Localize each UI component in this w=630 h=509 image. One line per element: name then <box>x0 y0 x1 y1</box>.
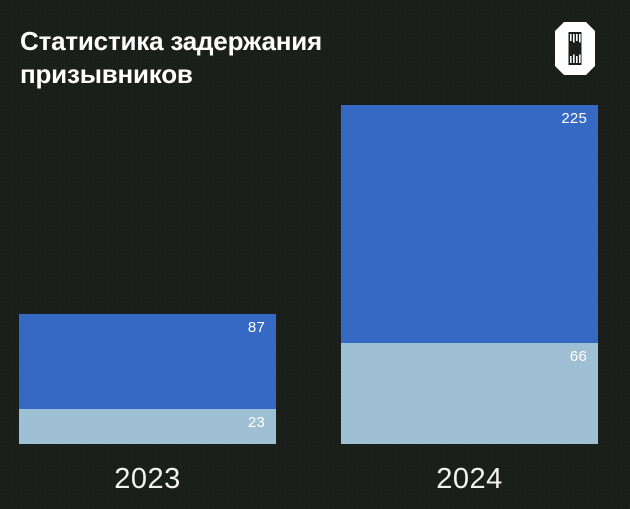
bar-segment-2023-lower[interactable]: 23 <box>19 409 276 444</box>
bar-group-2023: 87 23 2023 <box>19 0 276 509</box>
bar-group-2024: 225 66 2024 <box>341 0 598 509</box>
bar-segment-2023-upper[interactable]: 87 <box>19 314 276 409</box>
stacked-bar-2023: 87 23 <box>19 314 276 444</box>
axis-label-2024: 2024 <box>341 465 598 494</box>
bar-value-2024-lower: 66 <box>570 349 587 364</box>
bar-chart-plot-area: 87 23 2023 225 66 2024 <box>0 0 630 509</box>
bar-value-2023-lower: 23 <box>248 415 265 430</box>
infographic-canvas: Статистика задержания призывников 87 23 <box>0 0 630 509</box>
bar-segment-2024-upper[interactable]: 225 <box>341 105 598 343</box>
stacked-bar-2024: 225 66 <box>341 105 598 444</box>
bar-segment-2024-lower[interactable]: 66 <box>341 343 598 444</box>
bar-value-2024-upper: 225 <box>561 111 587 126</box>
axis-label-2023: 2023 <box>19 465 276 494</box>
bar-value-2023-upper: 87 <box>248 320 265 335</box>
